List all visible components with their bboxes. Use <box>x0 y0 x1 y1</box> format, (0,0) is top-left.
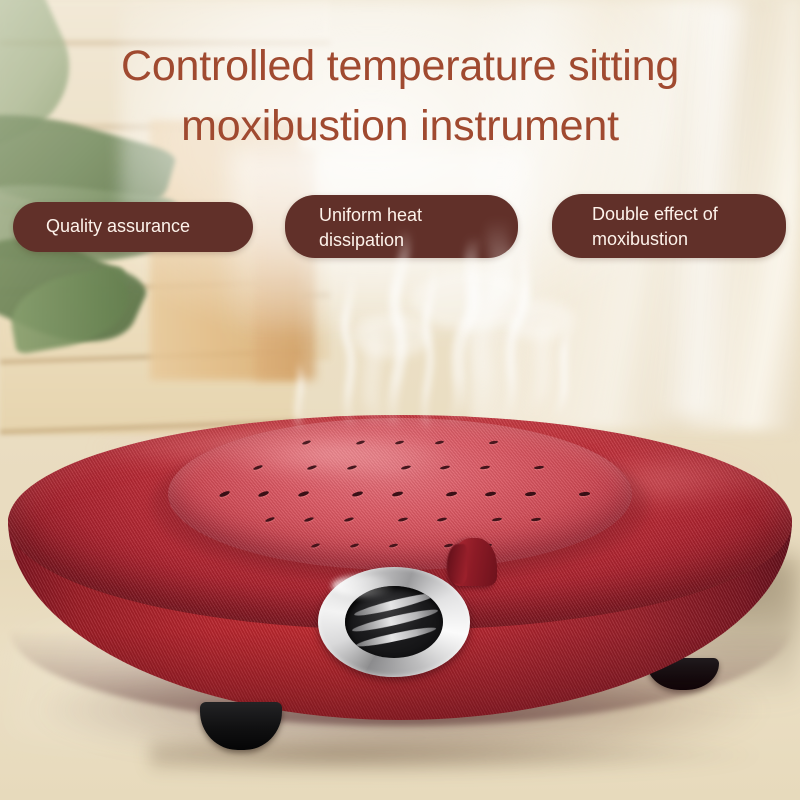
badge-label-line-2: moxibustion <box>592 227 786 252</box>
perforation-hole <box>579 492 590 497</box>
perforation-hole <box>265 517 276 524</box>
perforation-hole <box>485 491 496 496</box>
perforation-hole <box>524 492 535 497</box>
perforation-hole <box>398 517 409 523</box>
perforation-hole <box>356 439 366 444</box>
perforation-hole <box>489 440 499 444</box>
perforation-hole <box>534 466 544 471</box>
feature-badge-quality-assurance[interactable]: Quality assurance <box>13 202 253 252</box>
perforation-hole <box>435 440 445 445</box>
feature-badge-uniform-heat-dissipation[interactable]: Uniform heat dissipation <box>285 195 518 258</box>
perforation-hole <box>401 465 412 471</box>
perforation-hole <box>389 543 399 548</box>
perforation-hole <box>479 466 490 471</box>
perforation-hole <box>391 491 403 497</box>
perforation-hole <box>440 465 451 470</box>
perforation-hole <box>343 517 354 523</box>
perforation-hole <box>491 517 502 522</box>
perforation-hole <box>301 439 311 445</box>
page-title: Controlled temperature sitting moxibusti… <box>0 36 800 156</box>
vent-gloss <box>332 575 394 597</box>
headline-line-1: Controlled temperature sitting <box>0 36 800 96</box>
perforation-hole <box>310 543 320 549</box>
feature-badge-double-effect-moxibustion[interactable]: Double effect of moxibustion <box>552 194 786 258</box>
cushion-perforations <box>168 418 632 570</box>
badge-label-line-1: Quality assurance <box>46 214 253 239</box>
badge-label-line-2: dissipation <box>319 228 518 253</box>
perforation-hole <box>304 517 315 523</box>
product-image-moxibustion-device <box>0 330 800 770</box>
perforation-hole <box>395 440 405 445</box>
product-banner: Controlled temperature sitting moxibusti… <box>0 0 800 800</box>
perforation-hole <box>297 491 309 498</box>
badge-label-line-1: Uniform heat <box>319 203 518 228</box>
feature-badge-row: Quality assurance Uniform heat dissipati… <box>0 190 800 270</box>
perforation-hole <box>307 465 318 471</box>
perforation-hole <box>350 543 360 548</box>
headline-line-2: moxibustion instrument <box>0 96 800 156</box>
steel-vent <box>318 567 470 677</box>
perforation-hole <box>258 490 270 497</box>
perforation-hole <box>219 490 231 498</box>
perforation-hole <box>531 518 541 523</box>
perforation-hole <box>437 517 448 522</box>
perforation-hole <box>446 491 458 497</box>
perforation-hole <box>352 491 364 498</box>
perforation-hole <box>346 465 357 471</box>
badge-label-line-1: Double effect of <box>592 202 786 227</box>
perforation-hole <box>253 465 264 472</box>
